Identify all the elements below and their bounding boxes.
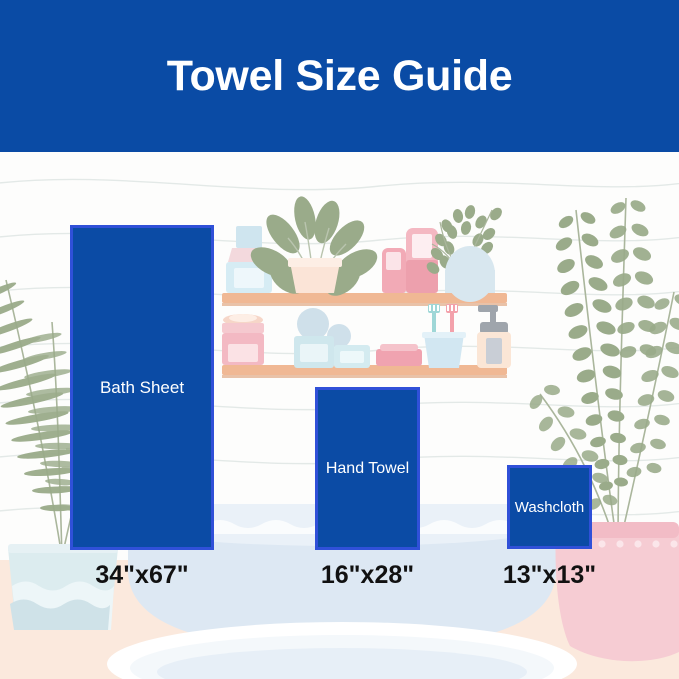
towel-label-washcloth: Washcloth: [515, 499, 584, 516]
towel-label-bath-sheet: Bath Sheet: [100, 378, 184, 398]
towel-rect-hand-towel[interactable]: Hand Towel: [315, 387, 420, 550]
soap-tray: [376, 344, 422, 366]
towel-rect-bath-sheet[interactable]: Bath Sheet: [70, 225, 214, 550]
towel-size-guide-infographic: Bath Sheet Hand Towel Washcloth 34"x67" …: [0, 0, 679, 679]
dimension-label-washcloth: 13"x13": [497, 561, 602, 590]
dimension-label-hand-towel: 16"x28": [310, 561, 425, 590]
dimension-label-bath-sheet: 34"x67": [70, 561, 214, 590]
header-band: Towel Size Guide: [0, 0, 679, 152]
page-title: Towel Size Guide: [167, 55, 513, 98]
towel-label-hand-towel: Hand Towel: [326, 460, 409, 478]
pink-jar: [222, 314, 264, 365]
towel-rect-washcloth[interactable]: Washcloth: [507, 465, 592, 549]
